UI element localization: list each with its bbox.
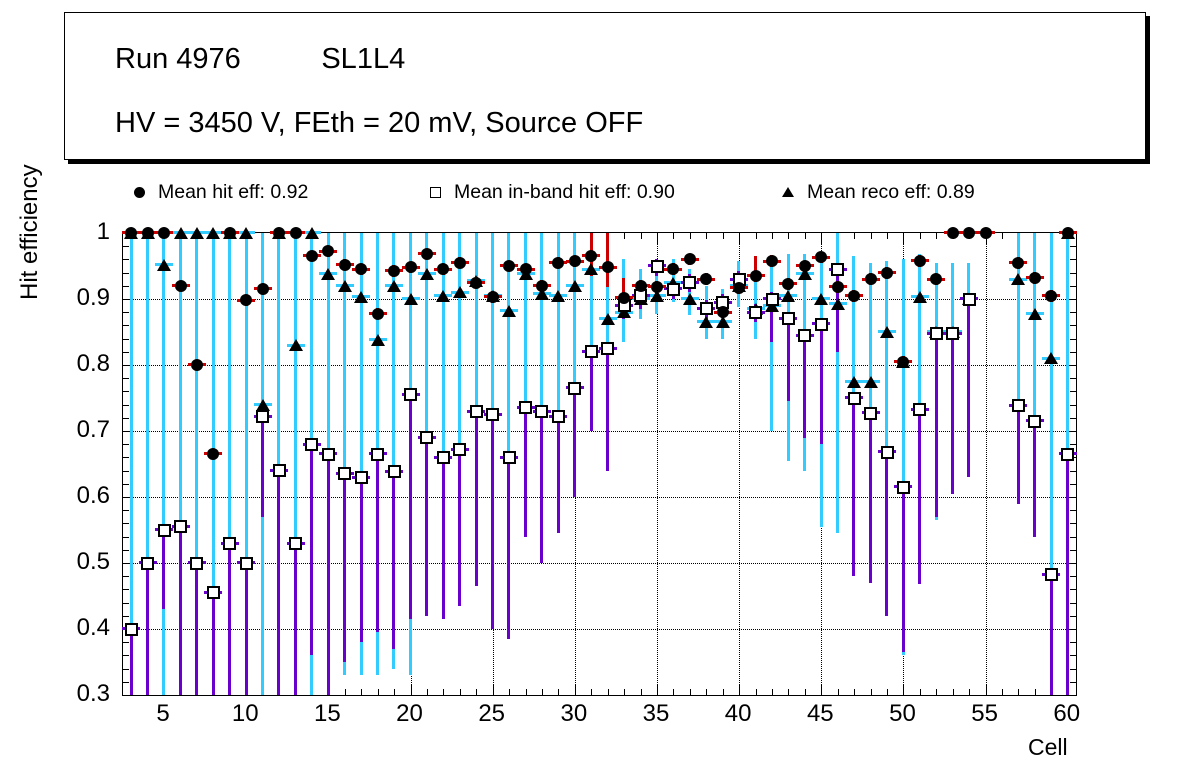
data-point-inband-hit-eff xyxy=(338,467,351,480)
data-point-hit-eff xyxy=(717,306,729,318)
x-axis-tick xyxy=(936,689,937,695)
data-point-inband-hit-eff xyxy=(125,623,138,636)
error-bar-vertical xyxy=(425,438,428,616)
error-bar-vertical xyxy=(195,563,198,695)
x-axis-tick-label: 30 xyxy=(560,700,587,728)
data-point-hit-eff xyxy=(569,255,581,267)
data-point-reco-eff xyxy=(338,280,352,292)
filled-circle-marker-icon xyxy=(134,187,145,198)
y-axis-tick-label: 0.3 xyxy=(30,680,110,708)
data-point-hit-eff xyxy=(1062,227,1074,239)
data-point-reco-eff xyxy=(404,293,418,305)
data-point-inband-hit-eff xyxy=(190,557,203,570)
data-point-reco-eff xyxy=(206,227,220,239)
data-point-inband-hit-eff xyxy=(815,318,828,331)
x-axis-tick xyxy=(591,689,592,695)
y-axis-tick-right xyxy=(1070,339,1076,340)
data-point-reco-eff xyxy=(781,290,795,302)
x-axis-tick-top xyxy=(1002,233,1003,239)
data-point-inband-hit-eff xyxy=(174,520,187,533)
x-axis-tick-top xyxy=(624,233,625,239)
data-point-reco-eff xyxy=(814,293,828,305)
y-axis-tick-right xyxy=(1070,471,1076,472)
data-point-reco-eff xyxy=(1044,352,1058,364)
data-point-inband-hit-eff xyxy=(700,302,713,315)
legend-entry-inband-hit-eff: Mean in-band hit eff: 0.90 xyxy=(430,174,675,210)
x-axis-tick-label: 40 xyxy=(725,700,752,728)
error-bar-vertical xyxy=(770,259,773,431)
y-axis-tick-right xyxy=(1070,510,1076,511)
data-point-hit-eff xyxy=(470,277,482,289)
figure-canvas: Run 4976 SL1L4 HV = 3450 V, FEth = 20 mV… xyxy=(0,0,1196,772)
y-axis-tick xyxy=(123,418,129,419)
x-axis-title: Cell xyxy=(1028,734,1068,761)
data-point-inband-hit-eff xyxy=(1061,448,1074,461)
x-axis-tick xyxy=(1018,689,1019,695)
y-axis-tick xyxy=(123,246,129,247)
y-axis-tick-label: 0.4 xyxy=(30,614,110,642)
data-point-reco-eff xyxy=(174,227,188,239)
y-axis-tick xyxy=(123,378,129,379)
y-axis-tick xyxy=(123,603,129,604)
data-point-hit-eff xyxy=(142,227,154,239)
error-bar-vertical xyxy=(852,398,855,576)
data-point-reco-eff xyxy=(371,334,385,346)
x-axis-tick xyxy=(394,689,395,695)
y-axis-tick-right xyxy=(1070,655,1076,656)
y-axis-tick-right xyxy=(1070,444,1076,445)
data-point-hit-eff xyxy=(273,227,285,239)
x-axis-tick xyxy=(608,689,609,695)
error-bar-vertical xyxy=(918,409,921,584)
x-axis-tick xyxy=(706,689,707,695)
x-axis-tick-label: 5 xyxy=(156,700,169,728)
y-axis-tick-label: 0.7 xyxy=(30,416,110,444)
error-bar-vertical xyxy=(885,452,888,616)
data-point-hit-eff xyxy=(552,257,564,269)
x-axis-tick-label: 15 xyxy=(314,700,341,728)
x-axis-tick-top xyxy=(871,233,872,239)
legend-entry-reco-eff: Mean reco eff: 0.89 xyxy=(782,174,975,210)
data-point-inband-hit-eff xyxy=(273,464,286,477)
data-point-inband-hit-eff xyxy=(256,410,269,423)
y-axis-tick xyxy=(123,405,129,406)
x-axis-tick xyxy=(493,684,494,695)
error-bar-vertical xyxy=(294,543,297,695)
data-point-inband-hit-eff xyxy=(322,448,335,461)
y-axis-tick xyxy=(123,312,129,313)
x-axis-tick-top xyxy=(805,233,806,239)
error-bar-vertical xyxy=(820,321,823,444)
error-bar-vertical xyxy=(409,395,412,619)
data-point-inband-hit-eff xyxy=(1028,415,1041,428)
y-axis-title: Hit efficiency xyxy=(16,164,44,300)
data-point-inband-hit-eff xyxy=(223,537,236,550)
gridline-horizontal xyxy=(123,497,1076,498)
data-point-reco-eff xyxy=(387,280,401,292)
x-axis-tick xyxy=(969,689,970,695)
data-point-inband-hit-eff xyxy=(798,329,811,342)
y-axis-tick xyxy=(123,484,129,485)
data-point-hit-eff xyxy=(963,227,975,239)
legend-label-hit-eff: Mean hit eff: 0.92 xyxy=(158,181,308,204)
error-bar-vertical xyxy=(951,333,954,493)
open-square-marker-icon xyxy=(430,187,441,198)
x-axis-tick xyxy=(657,684,658,695)
x-axis-tick xyxy=(887,689,888,695)
data-point-inband-hit-eff xyxy=(355,471,368,484)
error-bar-vertical xyxy=(967,299,970,477)
data-point-inband-hit-eff xyxy=(141,557,154,570)
error-bar-vertical xyxy=(475,411,478,586)
data-point-inband-hit-eff xyxy=(453,443,466,456)
error-bar-vertical xyxy=(491,415,494,630)
data-point-inband-hit-eff xyxy=(749,306,762,319)
error-bar-vertical xyxy=(343,474,346,662)
data-point-hit-eff xyxy=(848,290,860,302)
data-point-hit-eff xyxy=(240,294,252,306)
x-axis-tick-label: 55 xyxy=(971,700,998,728)
error-bar-vertical xyxy=(902,487,905,652)
error-bar-vertical xyxy=(935,333,938,516)
error-bar-vertical xyxy=(507,457,510,639)
error-bar-vertical xyxy=(162,233,165,695)
x-axis-tick xyxy=(673,689,674,695)
x-axis-tick xyxy=(1002,689,1003,695)
data-point-hit-eff xyxy=(766,255,778,267)
x-axis-tick xyxy=(871,689,872,695)
data-point-hit-eff xyxy=(520,263,532,275)
data-point-hit-eff xyxy=(1029,272,1041,284)
y-axis-tick xyxy=(123,391,129,392)
data-point-inband-hit-eff xyxy=(881,446,894,459)
y-axis-tick xyxy=(123,589,129,590)
error-bar-vertical xyxy=(228,543,231,695)
gridline-horizontal xyxy=(123,299,1076,300)
data-point-inband-hit-eff xyxy=(404,388,417,401)
y-axis-tick xyxy=(123,576,129,577)
x-axis-tick-label: 10 xyxy=(232,700,259,728)
data-point-reco-eff xyxy=(305,227,319,239)
data-point-inband-hit-eff xyxy=(913,403,926,416)
y-axis-tick xyxy=(123,550,129,551)
data-point-hit-eff xyxy=(700,273,712,285)
data-point-hit-eff xyxy=(355,263,367,275)
error-bar-vertical xyxy=(130,629,133,695)
data-point-hit-eff xyxy=(437,263,449,275)
data-point-inband-hit-eff xyxy=(371,448,384,461)
y-axis-tick-right xyxy=(1070,682,1076,683)
data-point-hit-eff xyxy=(290,227,302,239)
y-axis-tick-right xyxy=(1070,391,1076,392)
error-bar-vertical xyxy=(1066,454,1069,695)
data-point-hit-eff xyxy=(914,255,926,267)
x-axis-tick xyxy=(723,689,724,695)
data-point-hit-eff xyxy=(635,280,647,292)
x-axis-tick-top xyxy=(657,233,658,244)
data-point-inband-hit-eff xyxy=(651,260,664,273)
y-axis-tick xyxy=(123,523,129,524)
error-bar-vertical xyxy=(277,471,280,695)
data-point-hit-eff xyxy=(618,292,630,304)
data-point-hit-eff xyxy=(651,281,663,293)
x-axis-tick-top xyxy=(673,233,674,239)
x-axis-tick xyxy=(624,689,625,695)
data-point-hit-eff xyxy=(372,308,384,320)
y-axis-tick-right xyxy=(1070,669,1076,670)
error-bar-vertical xyxy=(360,477,363,642)
data-point-hit-eff xyxy=(1045,290,1057,302)
gridline-horizontal xyxy=(123,365,1076,366)
y-axis-tick xyxy=(123,457,129,458)
y-axis-tick-right xyxy=(1070,589,1076,590)
y-axis-tick-right xyxy=(1070,312,1076,313)
data-point-inband-hit-eff xyxy=(240,557,253,570)
data-point-reco-eff xyxy=(584,263,598,275)
x-axis-tick-top xyxy=(788,233,789,239)
data-point-inband-hit-eff xyxy=(667,283,680,296)
y-axis-tick-right xyxy=(1070,246,1076,247)
error-bar-vertical xyxy=(540,411,543,563)
error-bar-vertical xyxy=(162,530,165,609)
data-point-hit-eff xyxy=(881,267,893,279)
y-axis-tick-right xyxy=(1070,352,1076,353)
data-point-hit-eff xyxy=(1012,257,1024,269)
y-axis-tick xyxy=(123,286,129,287)
x-axis-tick-top xyxy=(936,233,937,239)
error-bar-vertical xyxy=(458,449,461,605)
data-point-hit-eff xyxy=(782,278,794,290)
data-point-hit-eff xyxy=(667,263,679,275)
y-axis-tick-right xyxy=(1070,273,1076,274)
x-axis-tick xyxy=(1035,689,1036,695)
x-axis-tick xyxy=(345,689,346,695)
x-axis-tick-label: 25 xyxy=(478,700,505,728)
y-axis-tick xyxy=(123,655,129,656)
data-point-inband-hit-eff xyxy=(158,524,171,537)
x-axis-tick-label: 50 xyxy=(889,700,916,728)
data-point-inband-hit-eff xyxy=(585,345,598,358)
error-bar-vertical xyxy=(442,457,445,619)
y-axis-tick xyxy=(123,471,129,472)
error-bar-vertical xyxy=(787,314,790,402)
data-point-reco-eff xyxy=(551,290,565,302)
data-point-inband-hit-eff xyxy=(1012,399,1025,412)
data-point-hit-eff xyxy=(487,291,499,303)
x-axis-tick xyxy=(838,689,839,695)
data-point-hit-eff xyxy=(980,227,992,239)
title-line-1: Run 4976 SL1L4 xyxy=(115,43,405,76)
error-bar-vertical xyxy=(590,352,593,431)
y-axis-tick-right xyxy=(1070,603,1076,604)
y-axis-tick-right xyxy=(1070,259,1076,260)
data-point-reco-eff xyxy=(289,339,303,351)
x-axis-tick xyxy=(772,689,773,695)
y-axis-tick xyxy=(123,273,129,274)
error-bar-vertical xyxy=(146,563,149,695)
data-point-reco-eff xyxy=(880,326,894,338)
x-axis-tick xyxy=(460,689,461,695)
plot-area xyxy=(122,232,1077,696)
x-axis-tick xyxy=(361,689,362,695)
x-axis-tick-top xyxy=(887,233,888,239)
y-axis-tick xyxy=(123,444,129,445)
data-point-reco-eff xyxy=(601,313,615,325)
x-axis-tick xyxy=(526,689,527,695)
y-axis-tick xyxy=(123,510,129,511)
y-axis-tick-label: 0.5 xyxy=(30,548,110,576)
data-point-hit-eff xyxy=(585,250,597,262)
y-axis-tick xyxy=(123,669,129,670)
error-bar-vertical xyxy=(869,413,872,583)
error-bar-vertical xyxy=(606,349,609,471)
error-bar-vertical xyxy=(803,333,806,437)
data-point-reco-eff xyxy=(436,290,450,302)
error-bar-vertical xyxy=(1033,421,1036,537)
data-point-hit-eff xyxy=(175,280,187,292)
x-axis-tick xyxy=(854,689,855,695)
data-point-inband-hit-eff xyxy=(782,312,795,325)
error-bar-vertical xyxy=(606,233,609,287)
data-point-inband-hit-eff xyxy=(420,431,433,444)
legend-entry-hit-eff: Mean hit eff: 0.92 xyxy=(134,174,308,210)
data-point-inband-hit-eff xyxy=(388,465,401,478)
x-axis-tick-label: 35 xyxy=(643,700,670,728)
data-point-inband-hit-eff xyxy=(1045,568,1058,581)
y-axis-tick-right xyxy=(1070,537,1076,538)
y-axis-tick-right xyxy=(1070,576,1076,577)
x-axis-tick-top xyxy=(821,233,822,244)
data-point-hit-eff xyxy=(930,273,942,285)
x-axis-tick-top xyxy=(723,233,724,239)
data-point-inband-hit-eff xyxy=(864,407,877,420)
x-axis-tick-top xyxy=(772,233,773,239)
y-axis-tick-label: 0.8 xyxy=(30,350,110,378)
data-point-inband-hit-eff xyxy=(766,293,779,306)
x-axis-tick xyxy=(903,684,904,695)
data-point-inband-hit-eff xyxy=(519,401,532,414)
error-bar-vertical xyxy=(179,527,182,695)
x-axis-tick-top xyxy=(854,233,855,239)
x-axis-tick-top xyxy=(756,233,757,239)
error-bar-vertical xyxy=(245,563,248,695)
data-point-hit-eff xyxy=(947,227,959,239)
y-axis-tick xyxy=(123,682,129,683)
data-point-reco-eff xyxy=(190,227,204,239)
x-axis-tick-top xyxy=(690,233,691,239)
data-point-inband-hit-eff xyxy=(848,392,861,405)
error-bar-vertical xyxy=(310,444,313,655)
error-bar-vertical xyxy=(557,416,560,533)
error-bar-vertical xyxy=(524,408,527,537)
error-bar-vertical xyxy=(376,454,379,632)
data-point-hit-eff xyxy=(454,257,466,269)
x-axis-tick xyxy=(690,689,691,695)
y-axis-tick xyxy=(123,352,129,353)
data-point-reco-eff xyxy=(157,259,171,271)
x-axis-tick xyxy=(739,684,740,695)
y-axis-tick xyxy=(123,642,129,643)
data-point-hit-eff xyxy=(191,359,203,371)
data-point-inband-hit-eff xyxy=(946,327,959,340)
y-axis-tick-right xyxy=(1070,286,1076,287)
data-point-hit-eff xyxy=(733,282,745,294)
data-point-inband-hit-eff xyxy=(897,481,910,494)
data-point-inband-hit-eff xyxy=(470,405,483,418)
y-axis-tick-right xyxy=(1070,405,1076,406)
data-point-reco-eff xyxy=(453,286,467,298)
data-point-inband-hit-eff xyxy=(289,537,302,550)
x-axis-tick xyxy=(575,684,576,695)
error-bar-vertical xyxy=(261,416,264,516)
data-point-inband-hit-eff xyxy=(305,438,318,451)
x-axis-tick xyxy=(378,689,379,695)
data-point-reco-eff xyxy=(321,268,335,280)
data-point-inband-hit-eff xyxy=(503,451,516,464)
y-axis-tick-right xyxy=(1070,642,1076,643)
y-axis-tick-right xyxy=(1065,695,1076,696)
data-point-hit-eff xyxy=(405,261,417,273)
x-axis-tick xyxy=(558,689,559,695)
y-axis-tick-right xyxy=(1070,325,1076,326)
error-bar-vertical xyxy=(573,388,576,497)
data-point-hit-eff xyxy=(536,280,548,292)
y-axis-tick-right xyxy=(1070,418,1076,419)
x-axis-tick xyxy=(509,689,510,695)
x-axis-tick-label: 60 xyxy=(1053,700,1080,728)
data-point-hit-eff xyxy=(799,260,811,272)
filled-triangle-marker-icon xyxy=(782,187,794,197)
data-point-hit-eff xyxy=(257,283,269,295)
title-line-2: HV = 3450 V, FEth = 20 mV, Source OFF xyxy=(115,107,643,140)
x-axis-tick xyxy=(411,684,412,695)
data-point-hit-eff xyxy=(388,265,400,277)
data-point-reco-eff xyxy=(683,293,697,305)
y-axis-tick-right xyxy=(1070,484,1076,485)
data-point-reco-eff xyxy=(864,376,878,388)
x-axis-tick xyxy=(542,689,543,695)
data-point-inband-hit-eff xyxy=(437,451,450,464)
data-point-reco-eff xyxy=(568,280,582,292)
x-axis-tick-label: 20 xyxy=(396,700,423,728)
x-axis-tick-top xyxy=(706,233,707,239)
y-axis-tick-label: 0.6 xyxy=(30,482,110,510)
y-axis-tick xyxy=(123,616,129,617)
data-point-hit-eff xyxy=(865,273,877,285)
data-point-hit-eff xyxy=(224,227,236,239)
error-bar-vertical xyxy=(212,593,215,695)
x-axis-tick xyxy=(953,689,954,695)
x-axis-tick xyxy=(756,689,757,695)
data-point-hit-eff xyxy=(832,281,844,293)
x-axis-tick-top xyxy=(920,233,921,239)
data-point-reco-eff xyxy=(847,376,861,388)
data-point-reco-eff xyxy=(354,291,368,303)
data-point-hit-eff xyxy=(684,253,696,265)
data-point-inband-hit-eff xyxy=(601,342,614,355)
data-point-reco-eff xyxy=(239,227,253,239)
legend-label-inband-hit-eff: Mean in-band hit eff: 0.90 xyxy=(454,181,675,204)
error-bar-vertical xyxy=(1017,406,1020,504)
title-box: Run 4976 SL1L4 HV = 3450 V, FEth = 20 mV… xyxy=(64,12,1146,160)
x-axis-tick xyxy=(641,689,642,695)
x-axis-tick xyxy=(920,689,921,695)
data-point-reco-eff xyxy=(831,298,845,310)
data-point-reco-eff xyxy=(256,399,270,411)
x-axis-tick xyxy=(788,689,789,695)
data-point-reco-eff xyxy=(1011,273,1025,285)
error-bar-vertical xyxy=(1050,574,1053,695)
